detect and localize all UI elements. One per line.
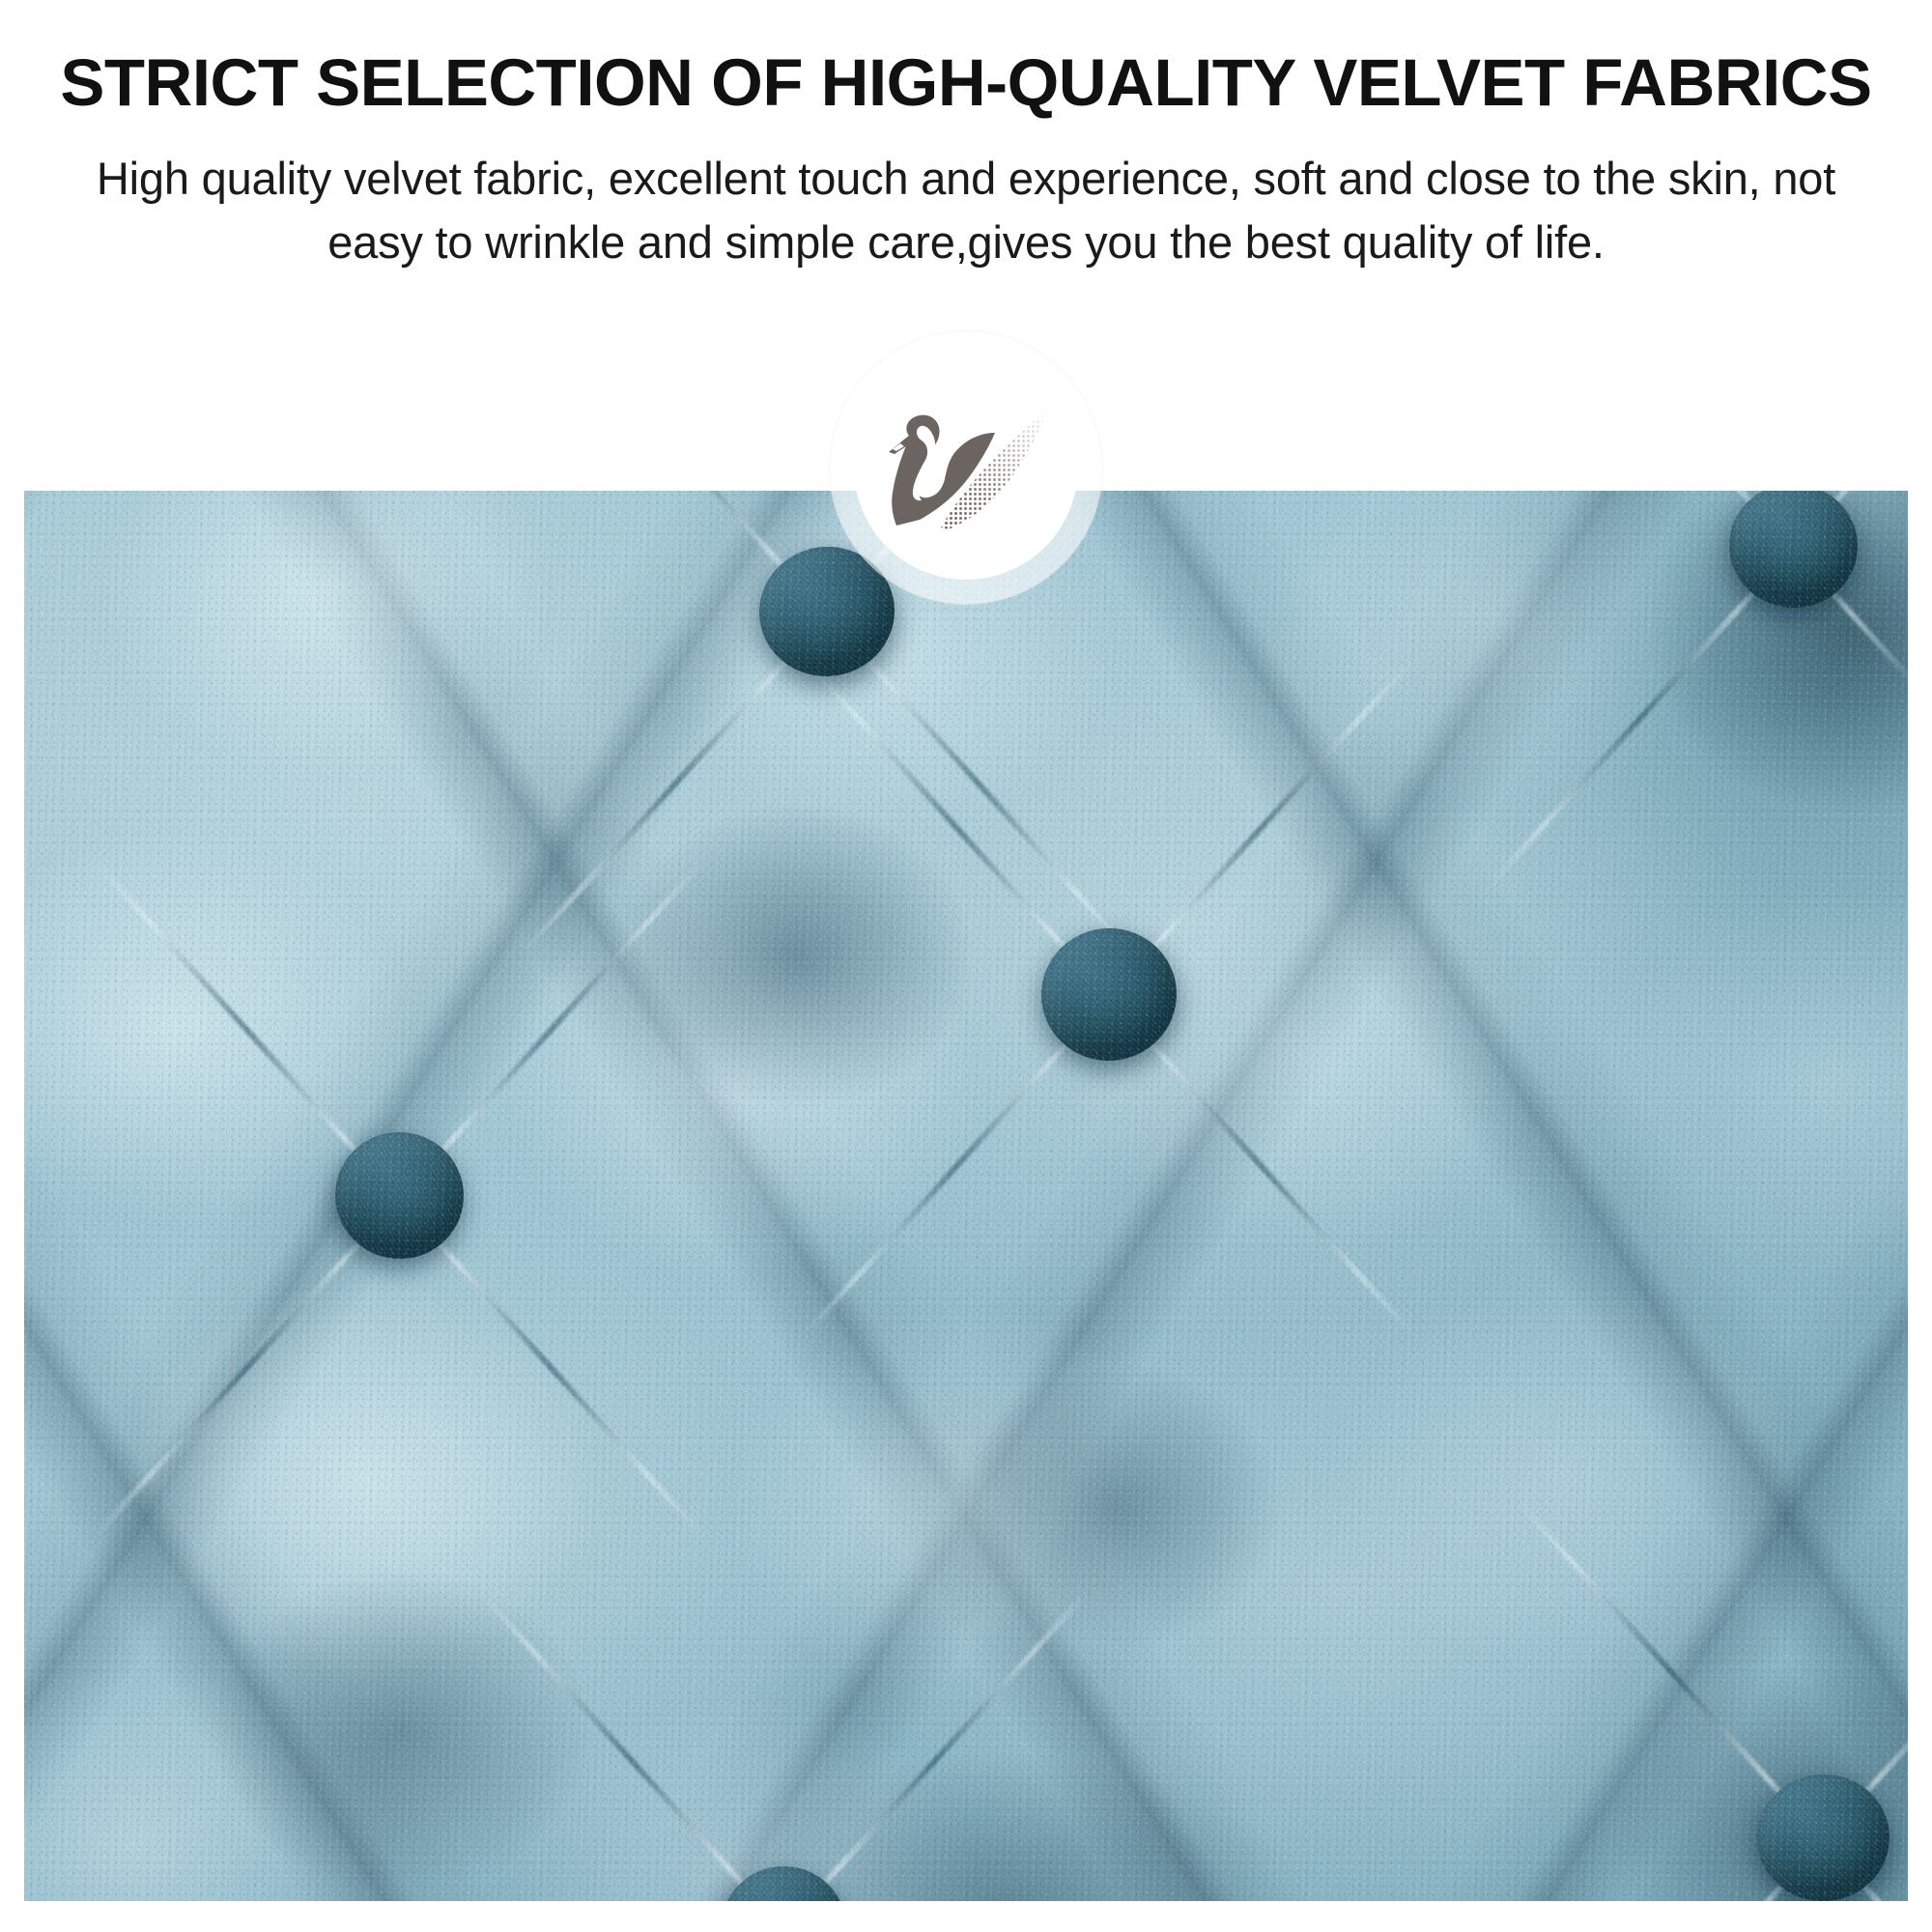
page-subtitle: High quality velvet fabric, excellent to… [58, 147, 1874, 274]
swan-icon [881, 400, 1057, 535]
product-banner-page: STRICT SELECTION OF HIGH-QUALITY VELVET … [0, 0, 1932, 1932]
fabric-photo [24, 491, 1908, 1901]
swan-logo-badge [829, 330, 1103, 605]
header-text-block: STRICT SELECTION OF HIGH-QUALITY VELVET … [0, 0, 1932, 274]
velvet-grain-texture [24, 491, 1908, 1901]
page-title: STRICT SELECTION OF HIGH-QUALITY VELVET … [0, 43, 1932, 124]
